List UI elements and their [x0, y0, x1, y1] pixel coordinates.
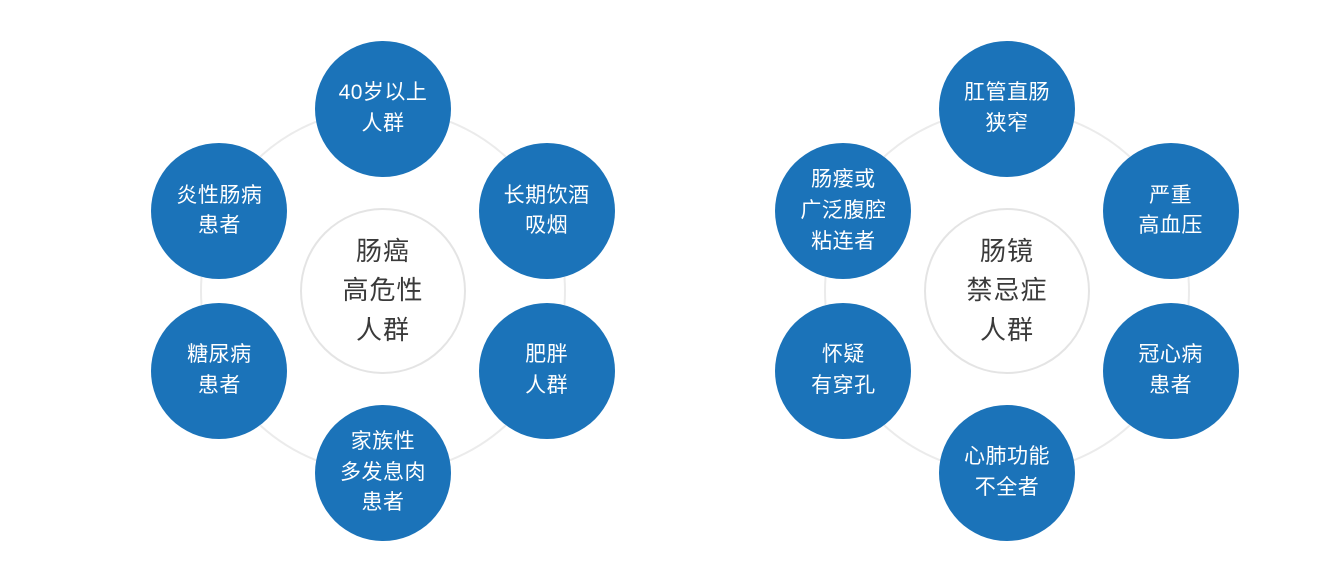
node-label-line: 粘连者: [811, 227, 876, 258]
node-label-line: 有穿孔: [811, 371, 876, 402]
hub-colonoscopy-contraindications: 肠镜禁忌症人群: [924, 208, 1090, 374]
node-anorectal-stenosis[interactable]: 肛管直肠狭窄: [939, 41, 1075, 177]
node-label-line: 广泛腹腔: [800, 196, 886, 227]
node-cardiopulmonary-insufficiency[interactable]: 心肺功能不全者: [939, 405, 1075, 541]
node-label-line: 高血压: [1138, 211, 1203, 242]
radial-diagram-colonoscopy-contraindications: 肠镜禁忌症人群肛管直肠狭窄严重高血压冠心病患者心肺功能不全者怀疑有穿孔肠瘘或广泛…: [0, 0, 1338, 586]
diagram-canvas: 肠癌高危性人群40岁以上人群长期饮酒吸烟肥胖人群家族性多发息肉患者糖尿病患者炎性…: [0, 0, 1338, 586]
hub-label-line: 肠镜: [980, 232, 1034, 272]
node-suspected-perforation[interactable]: 怀疑有穿孔: [775, 303, 911, 439]
node-coronary-heart-disease[interactable]: 冠心病患者: [1103, 303, 1239, 439]
hub-label-line: 人群: [980, 311, 1034, 351]
node-label-line: 不全者: [975, 473, 1040, 504]
node-label-line: 怀疑: [822, 340, 865, 371]
node-label-line: 肠瘘或: [811, 165, 876, 196]
node-label-line: 肛管直肠: [964, 78, 1050, 109]
hub-label-line: 禁忌症: [966, 271, 1047, 311]
node-label-line: 严重: [1149, 181, 1192, 212]
node-severe-hypertension[interactable]: 严重高血压: [1103, 143, 1239, 279]
node-intestinal-fistula-adhesion[interactable]: 肠瘘或广泛腹腔粘连者: [775, 143, 911, 279]
node-label-line: 冠心病: [1138, 340, 1203, 371]
node-label-line: 心肺功能: [964, 442, 1050, 473]
node-label-line: 患者: [1149, 371, 1192, 402]
node-label-line: 狭窄: [986, 109, 1029, 140]
